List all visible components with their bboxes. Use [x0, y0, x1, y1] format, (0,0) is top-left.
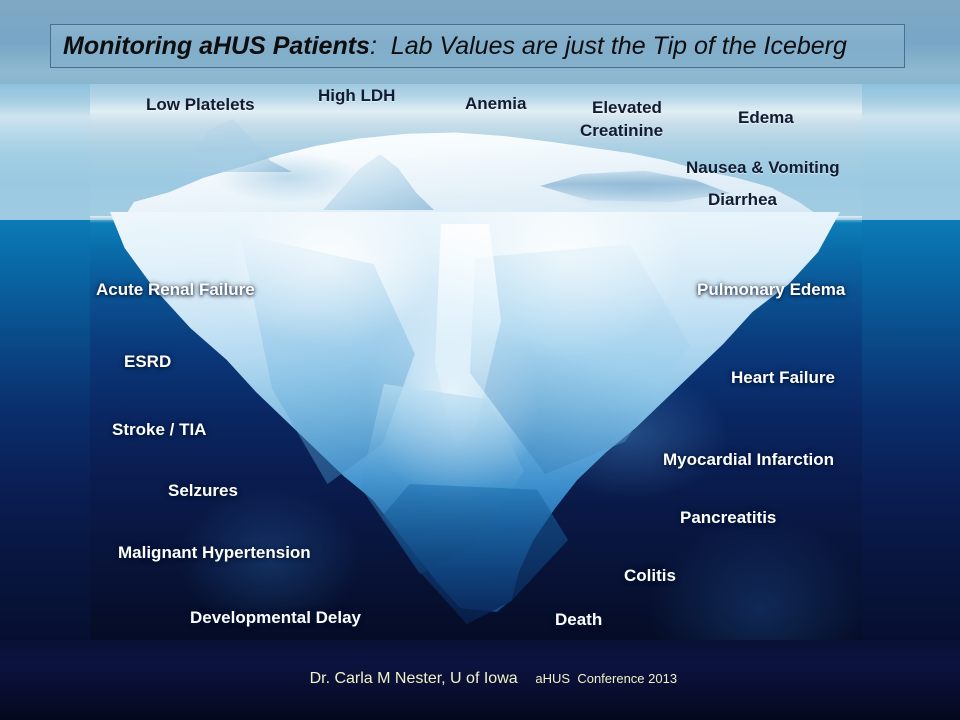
presentation-slide: Monitoring aHUS Patients: Lab Values are… — [0, 0, 960, 720]
complication-label-developmental-delay: Developmental Delay — [190, 608, 361, 627]
symptom-label-high-ldh: High LDH — [318, 86, 395, 105]
symptom-label-anemia: Anemia — [465, 94, 526, 113]
complication-label-heart-failure: Heart Failure — [731, 368, 835, 387]
symptom-label-elevated: Elevated — [592, 98, 662, 117]
complication-label-death: Death — [555, 610, 602, 629]
complication-label-acute-renal-failure: Acute Renal Failure — [96, 280, 255, 299]
symptom-label-nausea-vomiting: Nausea & Vomiting — [686, 158, 840, 177]
complication-label-colitis: Colitis — [624, 566, 676, 585]
complication-label-myocardial-infarction: Myocardial Infarction — [663, 450, 834, 469]
presenter-name: Dr. Carla M Nester, U of Iowa — [310, 670, 518, 687]
symptom-label-edema: Edema — [738, 108, 794, 127]
symptom-label-diarrhea: Diarrhea — [708, 190, 777, 209]
symptom-label-low-platelets: Low Platelets — [146, 95, 255, 114]
complication-label-stroke-tia: Stroke / TIA — [112, 420, 206, 439]
footer-video-line: Video Clip: www.bit.ly/2GYiy1j — [0, 708, 960, 720]
complication-label-esrd: ESRD — [124, 352, 171, 371]
page-title: Monitoring aHUS Patients — [63, 32, 370, 61]
symptom-label-creatinine: Creatinine — [580, 121, 663, 140]
complication-label-seizures: Selzures — [168, 481, 238, 500]
footer-attribution-line: Dr. Carla M Nester, U of Iowa aHUS Confe… — [0, 652, 960, 706]
slide-footer: Dr. Carla M Nester, U of Iowa aHUS Confe… — [0, 652, 960, 720]
complication-label-pulmonary-edema: Pulmonary Edema — [697, 280, 845, 299]
complication-label-malignant-hypertension: Malignant Hypertension — [118, 543, 311, 562]
page-subtitle: : Lab Values are just the Tip of the Ice… — [370, 32, 847, 61]
water-glow-right — [650, 520, 862, 640]
conference-name: aHUS Conference 2013 — [535, 671, 677, 686]
slide-title-box: Monitoring aHUS Patients: Lab Values are… — [50, 24, 905, 68]
complication-label-pancreatitis: Pancreatitis — [680, 508, 776, 527]
